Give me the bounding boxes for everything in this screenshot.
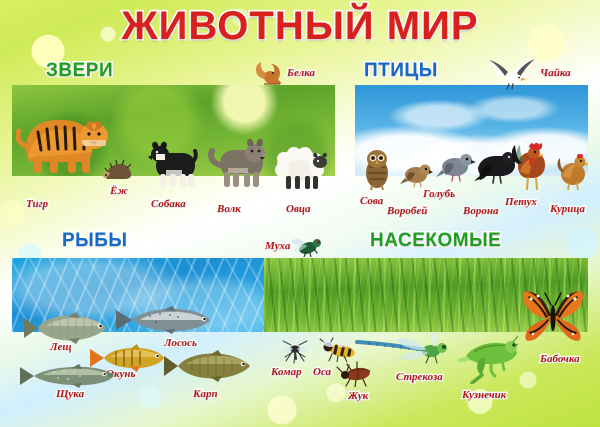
label-wasp: Оса [313,366,331,378]
label-seagull: Чайка [540,67,571,79]
label-wolf: Волк [217,203,241,215]
hedgehog-photo [102,158,134,182]
dog-photo [146,140,198,188]
squirrel-photo [253,60,283,86]
label-sparrow: Воробей [387,205,427,217]
carp-photo [164,350,250,382]
mosquito-photo [280,340,310,366]
label-rooster: Петух [505,196,537,208]
dragonfly-photo [355,330,451,366]
housefly-photo [290,235,322,257]
page-title: ЖИВОТНЫЙ МИР [0,4,600,49]
rooster-photo [512,142,552,190]
tiger-photo [16,100,110,174]
hen-photo [556,152,590,190]
label-hedgehog: Ёж [110,185,128,197]
wasp-photo [318,336,358,362]
label-housefly: Муха [265,240,290,252]
label-owl: Сова [360,195,383,207]
owl-photo [362,148,392,190]
label-butterfly: Бабочка [540,353,580,365]
grasshopper-photo [456,334,518,384]
section-header-birds: ПТИЦЫ [364,60,438,82]
seagull-photo [487,56,539,90]
label-crow: Ворона [463,205,498,217]
section-header-fish: РЫБЫ [62,230,128,252]
section-header-insects: НАСЕКОМЫЕ [370,230,501,252]
label-salmon: Лосось [164,337,197,349]
label-pike: Щука [56,388,84,400]
label-mosquito: Комар [271,366,302,378]
label-squirrel: Белка [287,67,315,79]
sparrow-photo [400,160,434,188]
label-sheep: Овца [286,203,310,215]
label-beetle: Жук [348,390,368,402]
section-header-mammals: ЗВЕРИ [46,60,113,82]
wolf-photo [208,138,266,188]
salmon-photo [116,306,210,334]
animal-world-poster: ЖИВОТНЫЙ МИР ЗВЕРИ ПТИЦЫ РЫБЫ НАСЕКОМЫЕ … [0,0,600,427]
butterfly-photo [518,286,588,348]
label-tiger: Тигр [26,198,48,210]
label-pigeon: Голубь [423,188,455,200]
pike-photo [20,363,114,389]
label-hen: Курица [550,203,585,215]
label-grasshopper: Кузнечик [462,389,506,401]
label-dragonfly: Стрекоза [396,371,443,383]
label-carp: Карп [193,388,218,400]
label-dog: Собака [151,198,186,210]
pigeon-photo [436,150,476,184]
sheep-photo [272,143,328,189]
bream-photo [24,312,112,344]
label-bream: Лещ [50,341,72,353]
